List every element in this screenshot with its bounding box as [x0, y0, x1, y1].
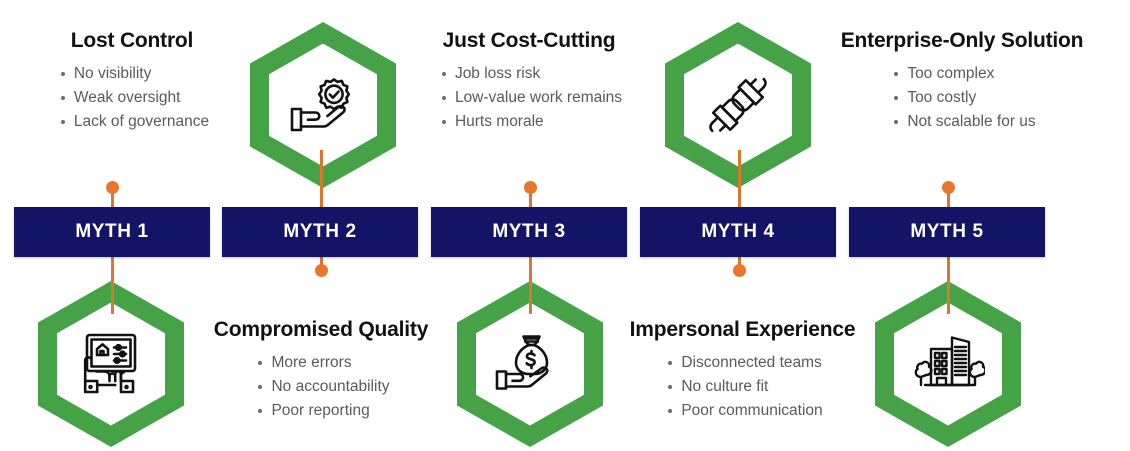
list-item: Lack of governance	[74, 110, 209, 134]
myth-bullets-1: No visibility Weak oversight Lack of gov…	[55, 62, 209, 134]
myth-bullets-5: Too complex Too costly Not scalable for …	[888, 62, 1035, 134]
tablet-smart-home-control-icon	[57, 303, 165, 426]
office-building-trees-icon	[894, 303, 1002, 426]
list-item: No accountability	[271, 375, 389, 399]
list-item: Poor communication	[681, 399, 822, 423]
connector-line-myth-4-up	[738, 150, 741, 207]
hand-quality-badge-icon	[269, 44, 377, 167]
list-item: No culture fit	[681, 375, 822, 399]
plug-socket-disconnect-icon	[684, 44, 792, 167]
list-item: Low-value work remains	[455, 86, 622, 110]
myth-bullets-4: Disconnected teams No culture fit Poor c…	[662, 351, 822, 423]
myth-bar-1[interactable]: MYTH 1	[14, 207, 210, 257]
myth-bar-3[interactable]: MYTH 3	[431, 207, 627, 257]
myth-bar-1-label: MYTH 1	[75, 221, 148, 243]
list-item: Not scalable for us	[907, 110, 1035, 134]
connector-dot-myth-1	[106, 181, 119, 194]
connector-dot-myth-3	[524, 181, 537, 194]
myth-text-block-2: Compromised Quality More errors No accou…	[186, 318, 456, 423]
list-item: Job loss risk	[455, 62, 622, 86]
hand-money-bag-icon	[476, 303, 584, 426]
myth-bar-3-label: MYTH 3	[492, 221, 565, 243]
list-item: More errors	[271, 351, 389, 375]
connector-line-myth-5-down	[947, 257, 950, 314]
myth-title-4: Impersonal Experience	[600, 318, 885, 342]
connector-dot-myth-5	[942, 181, 955, 194]
myth-bar-4[interactable]: MYTH 4	[640, 207, 836, 257]
myth-bar-5[interactable]: MYTH 5	[849, 207, 1045, 257]
connector-line-myth-3-down	[529, 257, 532, 314]
list-item: Too complex	[907, 62, 1035, 86]
connector-dot-myth-2	[315, 264, 328, 277]
myth-bar-2-label: MYTH 2	[283, 221, 356, 243]
myth-bar-2[interactable]: MYTH 2	[222, 207, 418, 257]
connector-dot-myth-4	[733, 264, 746, 277]
myth-text-block-5: Enterprise-Only Solution Too complex Too…	[812, 29, 1112, 134]
hexagon-icon-myth-2	[250, 22, 396, 188]
list-item: Hurts morale	[455, 110, 622, 134]
infographic-canvas: MYTH 1 MYTH 2 MYTH 3 MYTH 4 MYTH 5 Lost …	[0, 0, 1130, 451]
connector-line-myth-2-up	[320, 150, 323, 207]
myth-title-1: Lost Control	[12, 29, 252, 53]
myth-title-3: Just Cost-Cutting	[404, 29, 654, 53]
connector-line-myth-1-down	[111, 257, 114, 314]
list-item: Too costly	[907, 86, 1035, 110]
myth-bar-4-label: MYTH 4	[701, 221, 774, 243]
myth-title-5: Enterprise-Only Solution	[812, 29, 1112, 53]
list-item: No visibility	[74, 62, 209, 86]
myth-text-block-1: Lost Control No visibility Weak oversigh…	[12, 29, 252, 134]
myth-title-2: Compromised Quality	[186, 318, 456, 342]
list-item: Weak oversight	[74, 86, 209, 110]
myth-bar-5-label: MYTH 5	[910, 221, 983, 243]
myth-bullets-3: Job loss risk Low-value work remains Hur…	[436, 62, 622, 134]
myth-bullets-2: More errors No accountability Poor repor…	[252, 351, 389, 423]
list-item: Poor reporting	[271, 399, 389, 423]
list-item: Disconnected teams	[681, 351, 822, 375]
myth-text-block-3: Just Cost-Cutting Job loss risk Low-valu…	[404, 29, 654, 134]
myth-text-block-4: Impersonal Experience Disconnected teams…	[600, 318, 885, 423]
